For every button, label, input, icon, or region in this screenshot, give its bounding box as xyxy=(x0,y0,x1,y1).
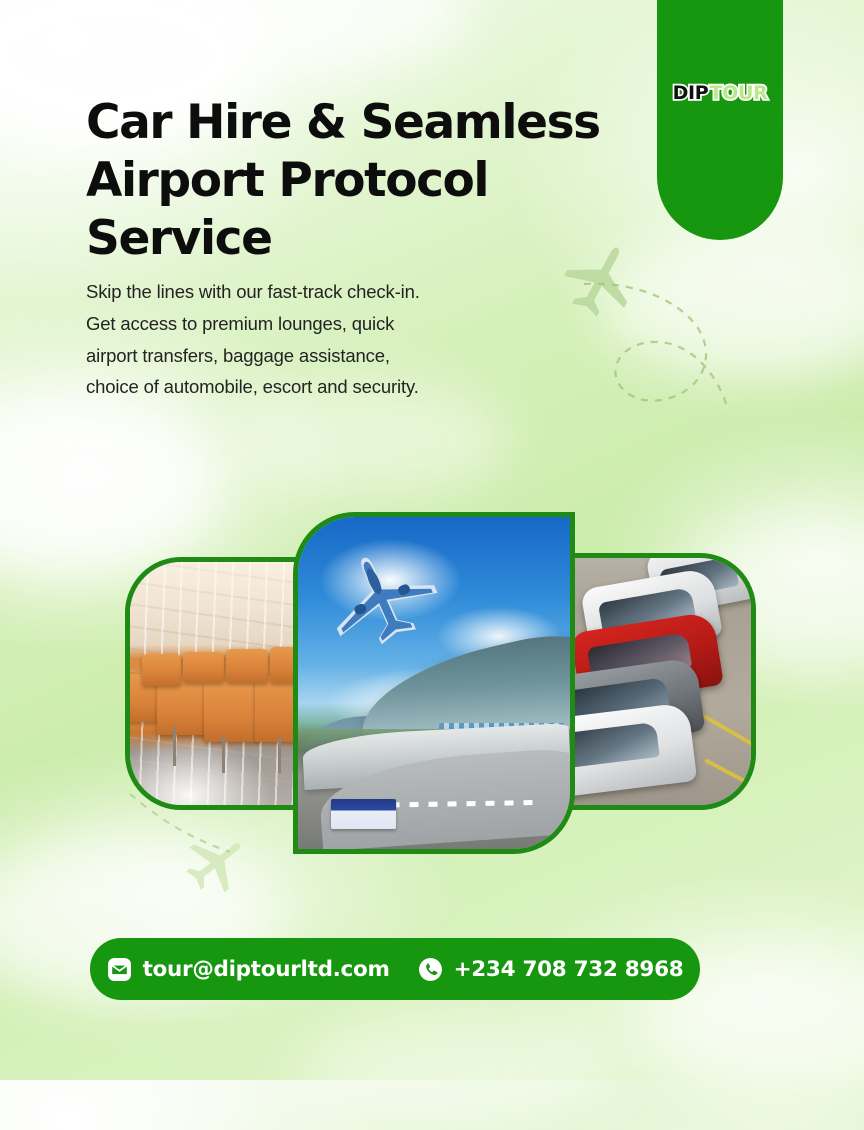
envelope-icon xyxy=(107,957,132,982)
logo-text-dip: DIP xyxy=(673,82,709,104)
description-text: Skip the lines with our fast-track check… xyxy=(86,276,606,403)
contact-email[interactable]: tour@diptourltd.com xyxy=(107,957,390,982)
collage-photo-airplane xyxy=(293,512,575,854)
headline-line-1: Car Hire & Seamless xyxy=(86,94,646,152)
logo-text-tour: TOUR xyxy=(709,82,767,104)
airplane-silhouette-icon-secondary xyxy=(178,828,254,900)
phone-icon xyxy=(418,957,443,982)
cars-photo-content xyxy=(571,558,751,805)
subcopy-line-1: Skip the lines with our fast-track check… xyxy=(86,276,606,308)
contact-bar: tour@diptourltd.com +234 708 732 8968 xyxy=(90,938,700,1000)
contact-phone[interactable]: +234 708 732 8968 xyxy=(418,957,684,982)
brand-logo-tab[interactable]: DIPTOUR xyxy=(657,0,783,240)
phone-text: +234 708 732 8968 xyxy=(454,957,684,982)
email-text: tour@diptourltd.com xyxy=(143,957,390,982)
subcopy-line-4: choice of automobile, escort and securit… xyxy=(86,371,606,403)
lounge-photo-content xyxy=(130,562,325,805)
headline-line-3: Service xyxy=(86,210,646,268)
subcopy-line-3: airport transfers, baggage assistance, xyxy=(86,340,606,372)
airplane-photo-content xyxy=(298,517,570,849)
brand-wordmark: DIPTOUR xyxy=(657,82,783,104)
collage-photo-lounge xyxy=(125,557,330,810)
airplane-photo-jet xyxy=(320,547,448,649)
headline-line-2: Airport Protocol xyxy=(86,152,646,210)
collage-photo-cars xyxy=(566,553,756,810)
page-title: Car Hire & Seamless Airport Protocol Ser… xyxy=(86,94,646,268)
subcopy-line-2: Get access to premium lounges, quick xyxy=(86,308,606,340)
flight-path-trail-secondary xyxy=(126,790,236,870)
